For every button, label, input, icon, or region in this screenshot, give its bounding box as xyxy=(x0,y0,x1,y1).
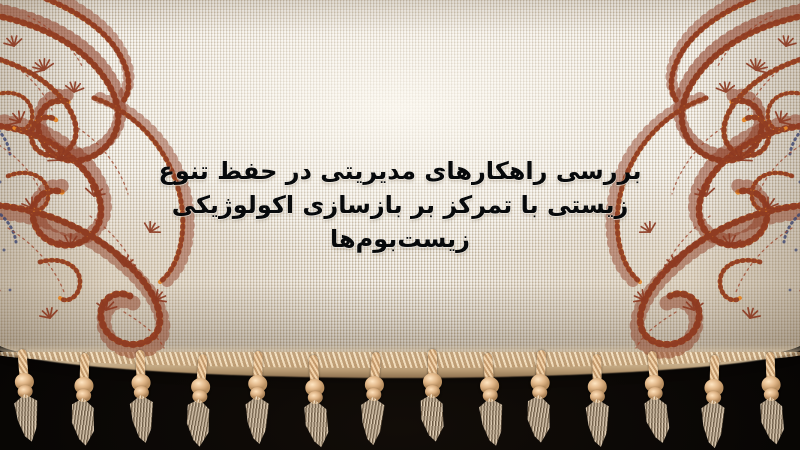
fabric-edge-vignette xyxy=(0,0,800,374)
fabric-weave-texture xyxy=(0,0,800,374)
title-card-canvas: بررسی راهکارهای مدیریتی در حفظ تنوع زیست… xyxy=(0,0,800,450)
embroidered-fabric-sheet xyxy=(0,0,800,374)
